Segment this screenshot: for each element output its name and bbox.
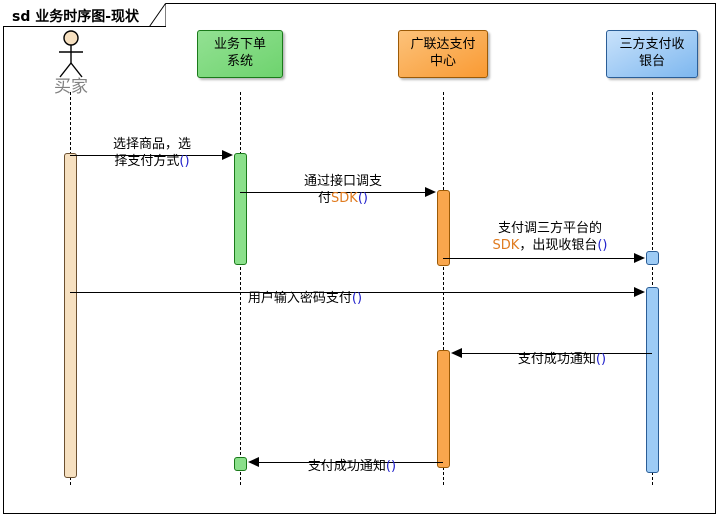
- message-5-suffix: (): [596, 352, 606, 367]
- frame-title-text: sd 业务时序图-现状: [12, 6, 139, 26]
- actor-buyer[interactable]: [50, 30, 92, 78]
- participant-order-system-label: 业务下单 系统: [214, 37, 266, 69]
- activation-order-system-2: [234, 457, 247, 471]
- message-label-5: 支付成功通知(): [472, 334, 652, 368]
- message-arrow-6: [248, 457, 259, 467]
- message-label-6: 支付成功通知(): [262, 441, 442, 475]
- message-3-highlight: SDK: [493, 238, 520, 253]
- activation-order-system-1: [234, 153, 247, 265]
- message-4-text: 用户输入密码支付: [248, 291, 352, 306]
- message-line-3: [443, 258, 641, 259]
- message-3-text-tail: ，出现收银台: [519, 238, 597, 253]
- message-arrow-4: [634, 287, 645, 297]
- frame-tab-corner-icon: [149, 3, 166, 27]
- sequence-diagram-canvas: sd 业务时序图-现状 买家 业务下单 系统 广联达支付 中心 三方支付收 银台: [0, 0, 723, 520]
- frame-title-tab: sd 业务时序图-现状: [3, 3, 166, 27]
- message-label-3: 支付调三方平台的 SDK，出现收银台(): [460, 203, 640, 254]
- message-2-highlight: SDK: [331, 191, 358, 206]
- message-arrow-2: [425, 187, 436, 197]
- participant-third-party[interactable]: 三方支付收 银台: [606, 30, 698, 78]
- message-2-suffix: (): [358, 191, 368, 206]
- frame-title-label: 业务时序图-现状: [35, 9, 139, 25]
- frame-keyword: sd: [12, 9, 30, 25]
- activation-third-party-1: [646, 251, 659, 265]
- message-1-suffix: (): [179, 154, 189, 169]
- activation-third-party-2: [646, 287, 659, 473]
- activation-payment-center-1: [437, 190, 450, 266]
- participant-payment-center-label: 广联达支付 中心: [410, 37, 475, 69]
- participant-third-party-label: 三方支付收 银台: [619, 37, 684, 69]
- actor-label: 买家: [30, 72, 112, 97]
- message-4-suffix: (): [352, 291, 362, 306]
- message-arrow-3: [634, 253, 645, 263]
- message-3-suffix: (): [597, 238, 607, 253]
- message-5-text: 支付成功通知: [518, 352, 596, 367]
- message-6-text: 支付成功通知: [308, 459, 386, 474]
- message-6-suffix: (): [386, 459, 396, 474]
- participant-order-system[interactable]: 业务下单 系统: [197, 30, 283, 78]
- message-3-text: 支付调三方平台的: [498, 221, 602, 236]
- participant-payment-center[interactable]: 广联达支付 中心: [398, 30, 488, 78]
- activation-actor: [64, 153, 77, 478]
- message-label-2: 通过接口调支 付SDK(): [268, 156, 418, 207]
- message-label-4: 用户输入密码支付(): [205, 273, 405, 307]
- actor-stick-figure-icon: [50, 30, 92, 78]
- message-label-1: 选择商品，选 择支付方式(): [77, 119, 227, 170]
- message-arrow-5: [451, 348, 462, 358]
